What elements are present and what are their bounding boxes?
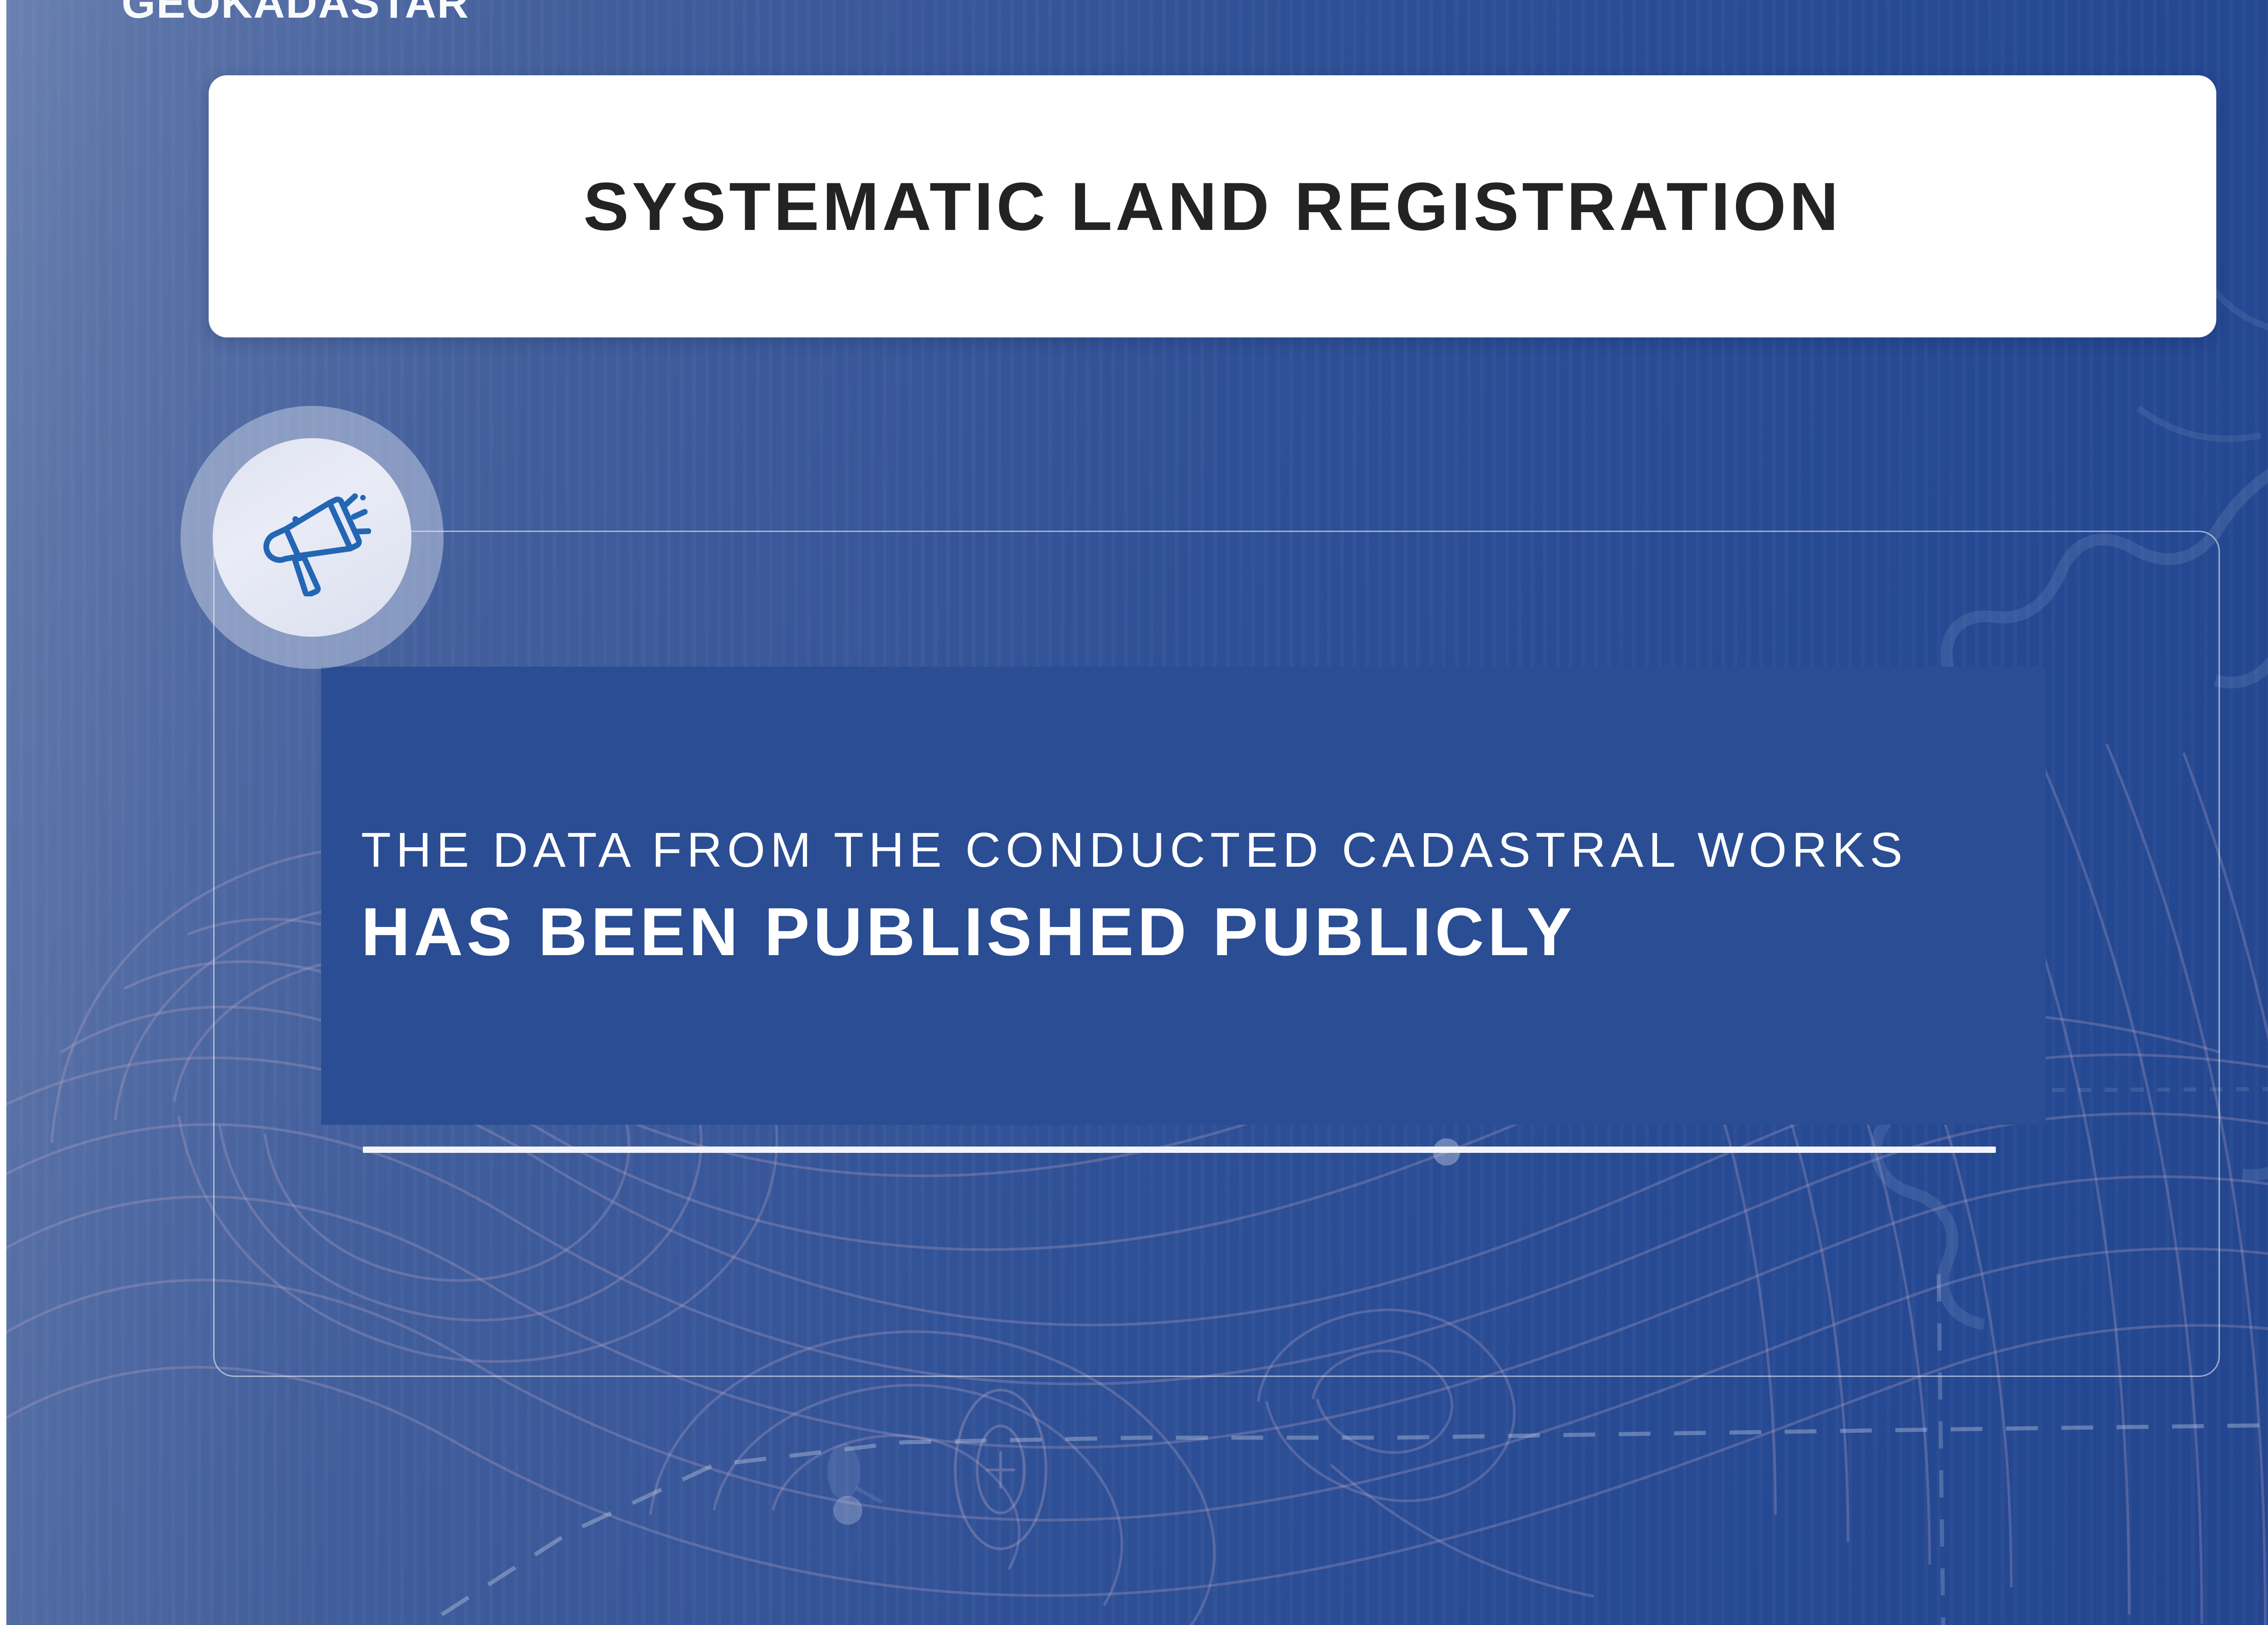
slide-canvas: GEOKADASTAR SYSTEMATIC LAND REGISTRATION <box>0 0 2268 1625</box>
megaphone-icon <box>253 478 371 596</box>
statement-line-primary: THE DATA FROM THE CONDUCTED CADASTRAL WO… <box>361 824 2046 875</box>
header-title-card: SYSTEMATIC LAND REGISTRATION <box>209 75 2216 337</box>
statement-panel: THE DATA FROM THE CONDUCTED CADASTRAL WO… <box>321 667 2046 1125</box>
announcement-badge-inner <box>213 438 411 637</box>
horizontal-rule-divider <box>363 1147 1996 1153</box>
page-title: SYSTEMATIC LAND REGISTRATION <box>583 167 1842 246</box>
announcement-badge <box>181 406 444 669</box>
page-margin-left <box>0 0 6 1625</box>
brand-wordmark: GEOKADASTAR <box>122 0 469 28</box>
statement-line-emphasis: HAS BEEN PUBLISHED PUBLICLY <box>361 896 2046 968</box>
